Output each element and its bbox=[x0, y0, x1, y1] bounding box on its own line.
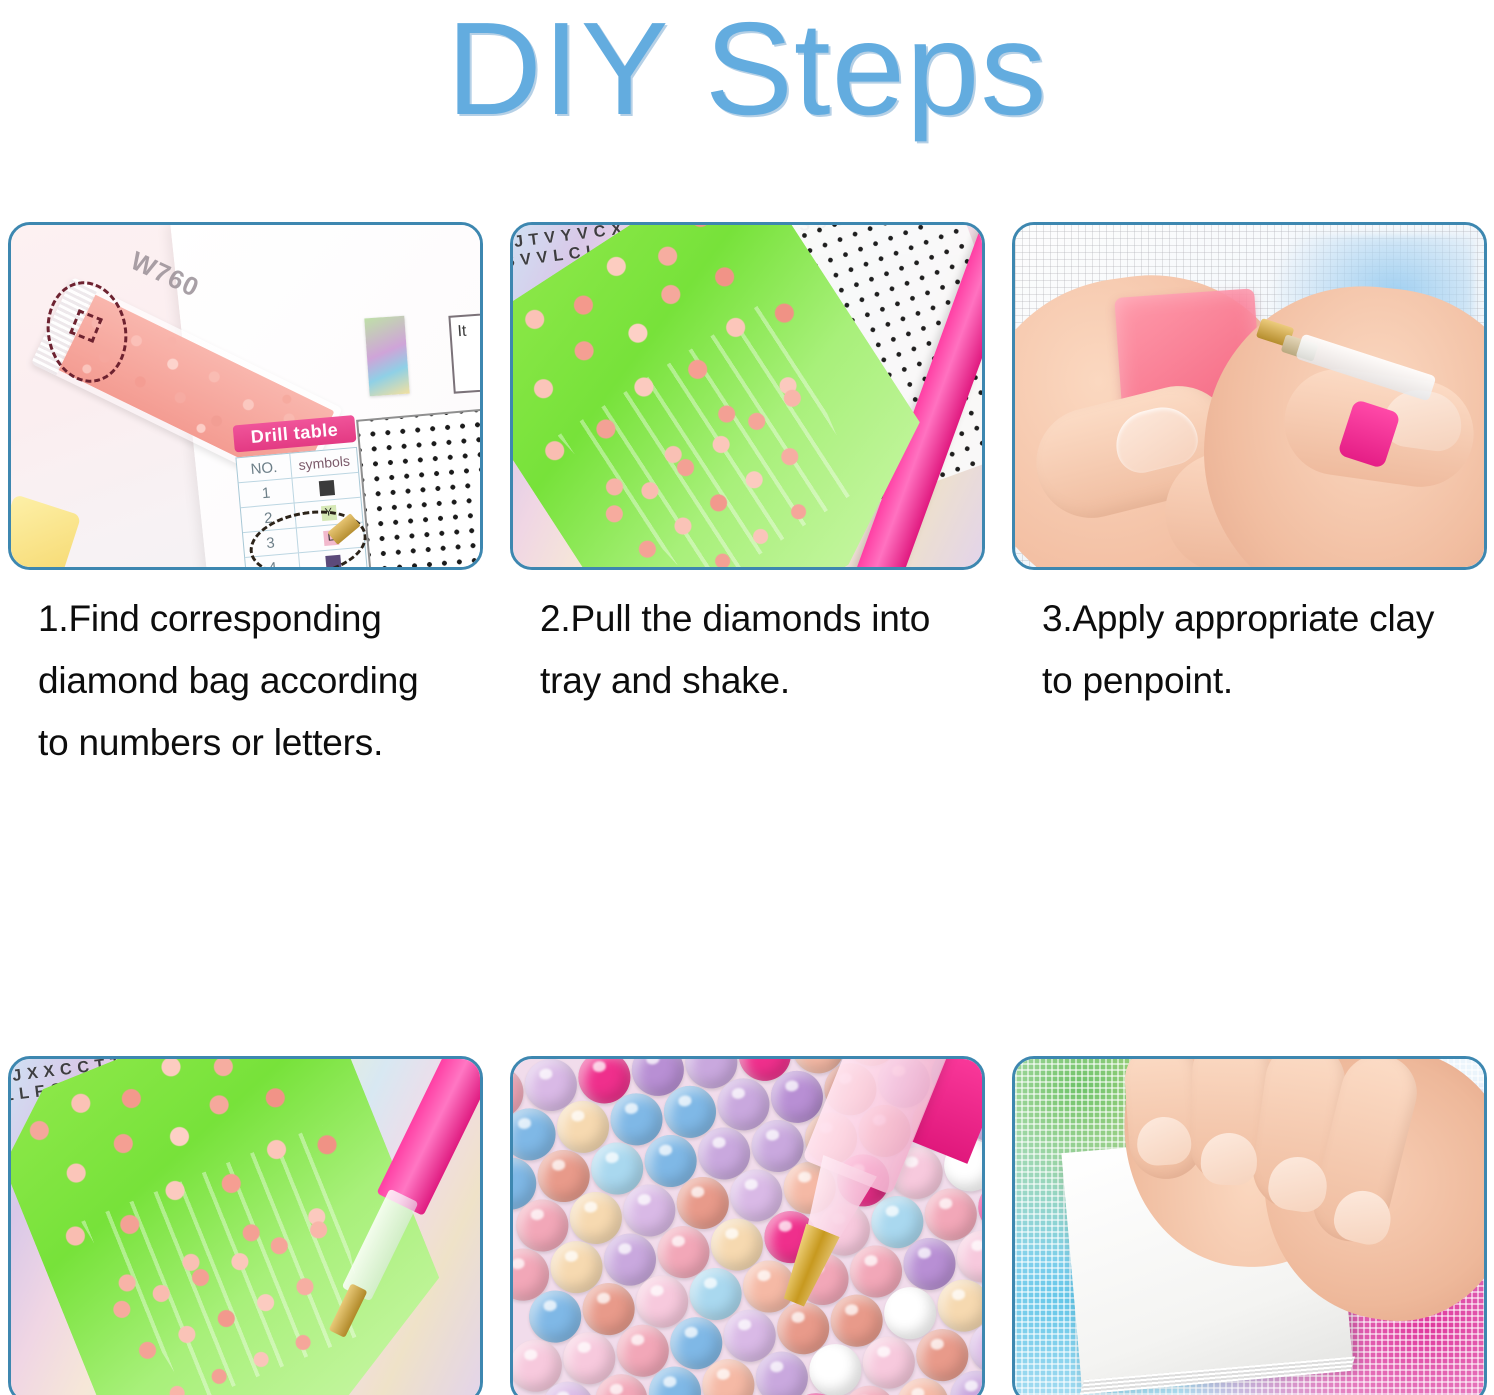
painting-thumbnail bbox=[364, 316, 409, 397]
step-photo-6 bbox=[1012, 1056, 1487, 1395]
step-photo-4: VAATLVJTCCYVVVCFCVLLTVVTTLVVVLCJXVLLTCTL… bbox=[8, 1056, 483, 1395]
caption-line: 2.Pull the diamonds into bbox=[540, 588, 985, 650]
step-photo-5 bbox=[510, 1056, 985, 1395]
step-card-1: W760 It Drill table NO. symbols bbox=[8, 222, 483, 774]
drill-table-header-no: NO. bbox=[236, 454, 292, 483]
pen-gold-tip bbox=[329, 1283, 368, 1338]
step-photo-2: XAATVTYTTTTTCTTFCVVLTYTPCTVLVLTTTLCTLVLX… bbox=[510, 222, 985, 570]
photo-scene-diamond-bag: W760 It Drill table NO. symbols bbox=[11, 225, 480, 567]
step-card-2: XAATVTYTTTTTCTTFCVVLTYTPCTVLVLTTTLCTLVLX… bbox=[510, 222, 985, 774]
steps-row-2: VAATLVJTCCYVVVCFCVLLTVVTTLVVVLCJXVLLTCTL… bbox=[8, 1056, 1487, 1395]
yellow-corner-object bbox=[8, 494, 81, 570]
caption-line: to numbers or letters. bbox=[38, 712, 483, 774]
step-card-4: VAATLVJTCCYVVVCFCVLLTVVTTLVVVLCJXVLLTCTL… bbox=[8, 1056, 483, 1395]
caption-line: diamond bag according bbox=[38, 650, 483, 712]
photo-scene-stick-diamond bbox=[513, 1059, 982, 1395]
drill-table: Drill table NO. symbols 1 bbox=[233, 415, 368, 570]
caption-line: to penpoint. bbox=[1042, 650, 1487, 712]
page-title: DIY Steps bbox=[0, 0, 1494, 144]
step-card-6: 6.Press the finished painting to make di… bbox=[1012, 1056, 1487, 1395]
pen-gold-tip bbox=[777, 1223, 840, 1309]
step-caption-1: 1.Find corresponding diamond bag accordi… bbox=[8, 588, 483, 774]
photo-scene-adsorb-diamond: VAATLVJTCCYVVVCFCVLLTVVTTLVVVLCJXVLLTCTL… bbox=[11, 1059, 480, 1395]
caption-line: tray and shake. bbox=[540, 650, 985, 712]
step-card-5: 5.Stick diamond onto canvas’s correspond… bbox=[510, 1056, 985, 1395]
step-photo-1: W760 It Drill table NO. symbols bbox=[8, 222, 483, 570]
pegboard-sheet bbox=[356, 407, 483, 570]
step-caption-3: 3.Apply appropriate clay to penpoint. bbox=[1012, 588, 1487, 712]
photo-scene-apply-clay bbox=[1015, 225, 1484, 567]
step-caption-2: 2.Pull the diamonds into tray and shake. bbox=[510, 588, 985, 712]
step-photo-3 bbox=[1012, 222, 1487, 570]
diy-steps-infographic: DIY Steps W760 bbox=[0, 0, 1494, 1395]
caption-line: 1.Find corresponding bbox=[38, 588, 483, 650]
steps-row-1: W760 It Drill table NO. symbols bbox=[8, 222, 1487, 774]
step-card-3: 3.Apply appropriate clay to penpoint. bbox=[1012, 222, 1487, 774]
photo-scene-press-painting bbox=[1015, 1059, 1484, 1395]
photo-scene-tray-shake: XAATVTYTTTTTCTTFCVVLTYTPCTVLVLTTTLCTLVLX… bbox=[513, 225, 982, 567]
rhinestone bbox=[981, 1056, 985, 1096]
sheet-text-box: It bbox=[448, 310, 483, 393]
caption-line: 3.Apply appropriate clay bbox=[1042, 588, 1487, 650]
steps-grid: W760 It Drill table NO. symbols bbox=[8, 222, 1487, 1395]
drill-no: 1 bbox=[239, 479, 295, 508]
